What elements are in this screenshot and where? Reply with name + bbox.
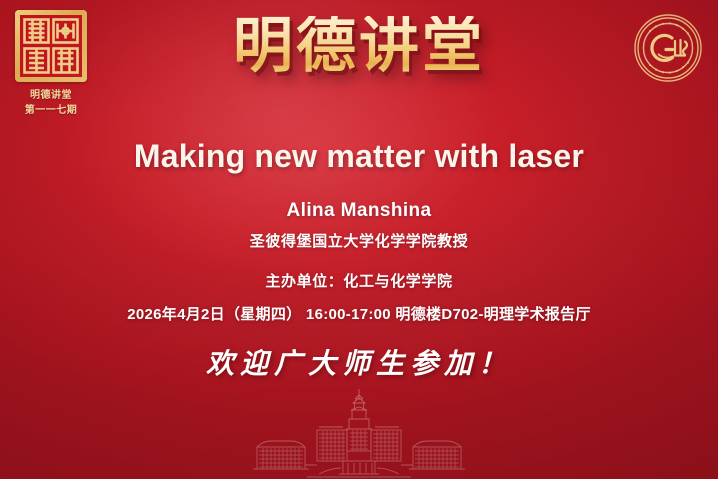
welcome-line: 欢迎广大师生参加！ — [0, 342, 718, 382]
organizer-line: 主办单位：化工与化学学院 — [0, 270, 718, 291]
seal-caption-line1: 明德讲堂 — [12, 89, 90, 104]
page-title: 明德讲堂 — [0, 16, 718, 76]
speaker-affiliation: 圣彼得堡国立大学化学学院教授 — [0, 230, 718, 251]
seal-caption-line2: 第一一七期 — [12, 104, 90, 119]
seal-caption: 明德讲堂 第一一七期 — [12, 89, 90, 118]
speaker-name: Alina Manshina — [0, 200, 718, 222]
lecture-title-en: Making new matter with laser — [0, 138, 718, 175]
datetime-venue-line: 2026年4月2日（星期四） 16:00-17:00 明德楼D702-明理学术报… — [0, 303, 718, 324]
university-building-icon — [219, 387, 499, 479]
lecture-poster: 明德讲堂 第一一七期 — [0, 0, 718, 479]
